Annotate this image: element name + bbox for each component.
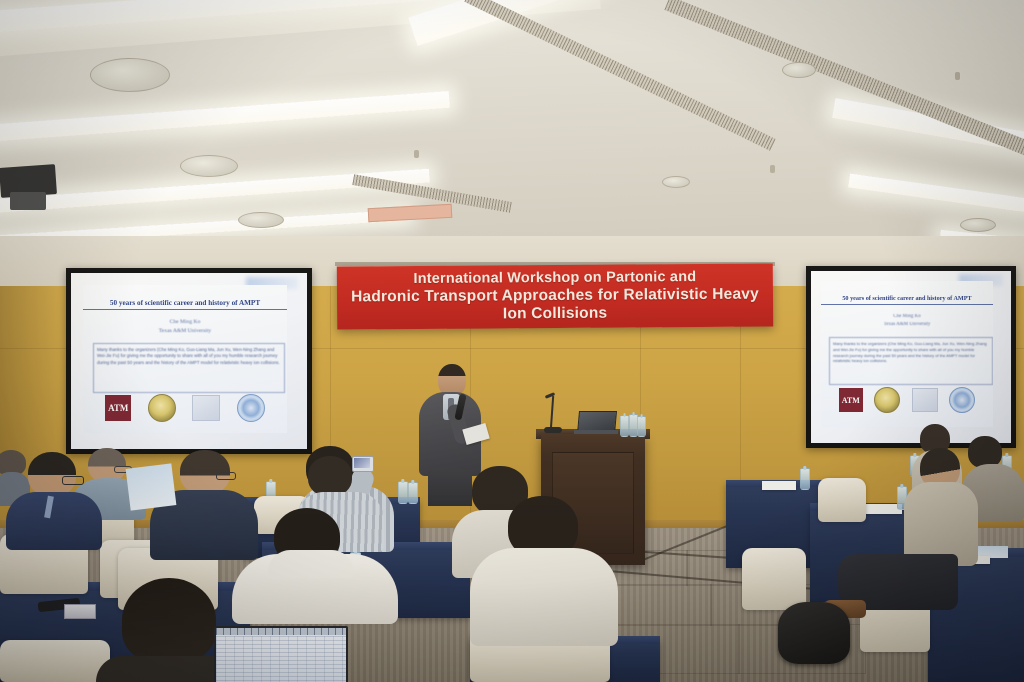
ceiling-light-strip [848, 173, 1024, 216]
head [28, 452, 76, 496]
chair-cover [818, 478, 866, 522]
ceiling-speaker [90, 58, 170, 92]
torso [470, 548, 618, 646]
attendee-right-beige [898, 448, 982, 658]
eyeglasses-icon [62, 476, 84, 485]
ceiling-speaker [960, 218, 996, 232]
banner-line-2: Hadronic Transport Approaches for Relati… [337, 285, 773, 325]
ceiling-speaker [662, 176, 690, 188]
slide-affiliation: Texas A&M University [83, 328, 287, 334]
blue-sunburst-logo [237, 394, 265, 422]
right-projection-screen: 50 years of scientific career and histor… [806, 266, 1016, 448]
blue-sunburst-logo [949, 387, 975, 413]
slide-logo-row: ATM [821, 385, 993, 415]
handout-paper [862, 504, 902, 514]
sprinkler-head [770, 165, 775, 173]
water-bottle [408, 482, 418, 504]
water-bottle [800, 468, 810, 490]
slide-logo-row: ATM [83, 393, 287, 423]
spreadsheet-header [216, 628, 346, 635]
attendee-navy-sweater [6, 452, 102, 548]
ceiling-speaker [238, 212, 284, 228]
attendee-front-light-shirt [470, 496, 618, 646]
banner-line-1: International Workshop on Partonic and [413, 269, 696, 288]
faint-emblem-logo [192, 395, 220, 421]
slide-author: Che Ming Ko [83, 319, 287, 325]
microphone-base [544, 427, 562, 433]
attendee-white-hoodie [232, 508, 398, 620]
chair-cover [0, 640, 110, 682]
handout-paper [126, 463, 177, 510]
spreadsheet-rows [216, 636, 346, 682]
eyeglasses-icon [216, 472, 236, 480]
slide-title: 50 years of scientific career and histor… [821, 295, 993, 305]
torso [6, 492, 102, 550]
laptop-screen [214, 626, 348, 682]
texas-am-logo: ATM [839, 388, 863, 412]
handout-paper [762, 481, 796, 490]
slide-body-text: Many thanks to the organizers (Che Ming … [93, 343, 285, 393]
texas-am-logo: ATM [105, 395, 131, 421]
projector-mount [10, 192, 46, 210]
head [122, 578, 216, 662]
left-slide: 50 years of scientific career and histor… [83, 285, 287, 433]
left-projection-screen: 50 years of scientific career and histor… [66, 268, 312, 454]
sprinkler-head [414, 150, 419, 158]
slide-title: 50 years of scientific career and histor… [83, 299, 287, 310]
head [308, 456, 352, 496]
chair-cover [742, 548, 806, 610]
ceiling-speaker [180, 155, 238, 177]
conference-room-photo: International Workshop on Partonic and H… [0, 0, 1024, 682]
water-bottle [637, 416, 646, 437]
hood [268, 550, 354, 578]
right-slide: 50 years of scientific career and histor… [821, 281, 993, 427]
sprinkler-head [955, 72, 960, 80]
faint-emblem-logo [912, 388, 938, 412]
water-bottle [620, 415, 629, 437]
gold-seal-logo [148, 394, 176, 422]
gold-seal-logo [874, 387, 900, 413]
workshop-banner: International Workshop on Partonic and H… [337, 263, 773, 329]
slide-body-text: Many thanks to the organizers (Che Ming … [829, 337, 993, 385]
ceiling-speaker [782, 62, 816, 78]
small-box [64, 604, 96, 619]
slide-author: Che Ming Ko [821, 314, 993, 319]
ceiling-light-strip [0, 91, 450, 146]
ceiling [0, 0, 1024, 262]
ceiling-sign-panel [368, 204, 453, 222]
podium-laptop-base [574, 430, 618, 434]
floor-bag [778, 602, 850, 664]
slide-affiliation: Texas A&M University [821, 322, 993, 327]
attendee-laptop[interactable] [214, 626, 344, 682]
water-bottle [398, 481, 408, 504]
